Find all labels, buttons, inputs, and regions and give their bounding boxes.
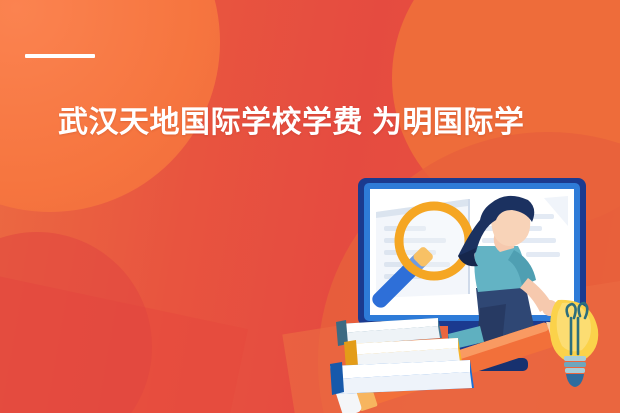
lightbulb xyxy=(550,300,598,387)
online-learning-illustration xyxy=(330,168,620,413)
promo-banner: 武汉天地国际学校学费 为明国际学 xyxy=(0,0,620,413)
accent-rule-decoration xyxy=(25,54,95,58)
lightbulb-base xyxy=(564,356,586,387)
book-blue xyxy=(330,360,474,395)
banner-headline: 武汉天地国际学校学费 为明国际学 xyxy=(58,102,620,144)
